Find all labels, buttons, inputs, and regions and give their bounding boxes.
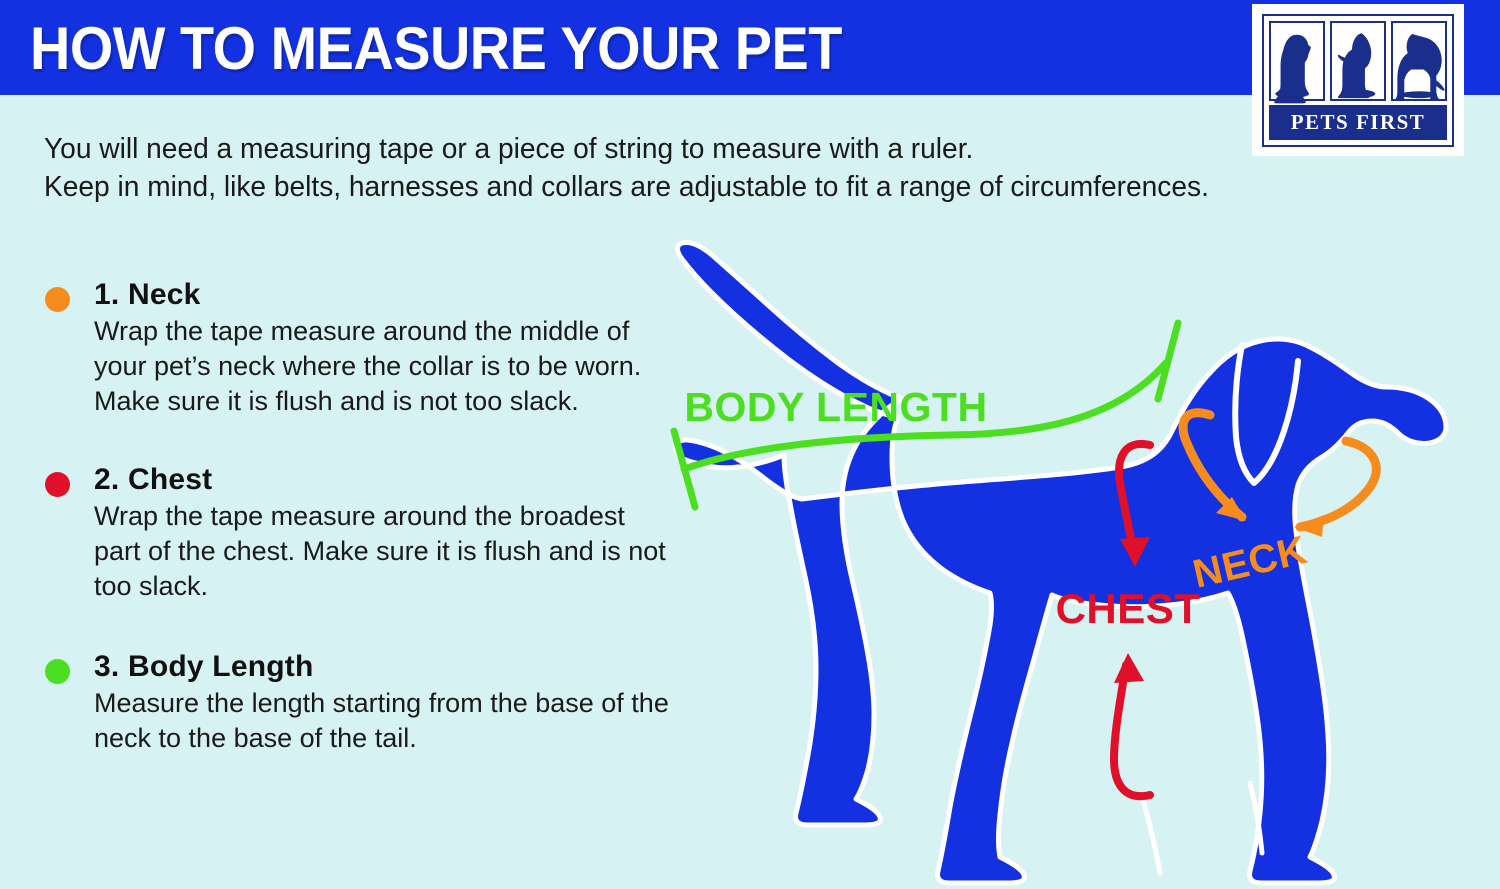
logo-frame: PETS FIRST <box>1262 14 1454 147</box>
standing-dog-silhouette-icon <box>1391 21 1447 101</box>
body-length-label: BODY LENGTH <box>684 384 987 430</box>
step-title-chest: 2. Chest <box>94 463 682 497</box>
page-title: HOW TO MEASURE YOUR PET <box>30 14 842 83</box>
intro-line-2: Keep in mind, like belts, harnesses and … <box>44 168 1305 206</box>
step-item-neck: 1. Neck Wrap the tape measure around the… <box>42 278 682 419</box>
intro-paragraph: You will need a measuring tape or a piec… <box>44 130 1305 206</box>
dog-silhouette-icon <box>676 243 1446 884</box>
step-body-chest: Wrap the tape measure around the broades… <box>94 499 674 604</box>
front-leg-divider-line <box>1142 795 1160 873</box>
step-title-body-length: 3. Body Length <box>94 650 682 684</box>
intro-line-1: You will need a measuring tape or a piec… <box>44 130 1305 168</box>
sitting-dog-silhouette-icon <box>1269 21 1325 101</box>
step-bullet-green-dot <box>45 659 70 684</box>
infographic-page: HOW TO MEASURE YOUR PET <box>0 0 1500 889</box>
howling-dog-silhouette-icon <box>1330 21 1386 101</box>
step-bullet-orange-dot <box>45 287 70 312</box>
step-body-neck: Wrap the tape measure around the middle … <box>94 314 674 419</box>
step-item-body-length: 3. Body Length Measure the length starti… <box>42 650 682 756</box>
step-body-body-length: Measure the length starting from the bas… <box>94 686 674 756</box>
chest-arrow-up-head <box>1114 653 1144 683</box>
dog-body-shape <box>676 243 1446 884</box>
step-item-chest: 2. Chest Wrap the tape measure around th… <box>42 463 682 604</box>
chest-label: CHEST <box>1056 585 1201 632</box>
logo-name-text: PETS FIRST <box>1291 112 1426 133</box>
measurement-steps-list: 1. Neck Wrap the tape measure around the… <box>42 278 682 756</box>
step-bullet-red-dot <box>45 472 70 497</box>
logo-panels <box>1269 21 1447 101</box>
chest-measure-lower-curve <box>1114 665 1150 796</box>
step-title-neck: 1. Neck <box>94 278 682 312</box>
dog-measurement-diagram: BODY LENGTH NECK CHEST <box>650 235 1500 889</box>
body-length-right-tick <box>1158 323 1178 399</box>
